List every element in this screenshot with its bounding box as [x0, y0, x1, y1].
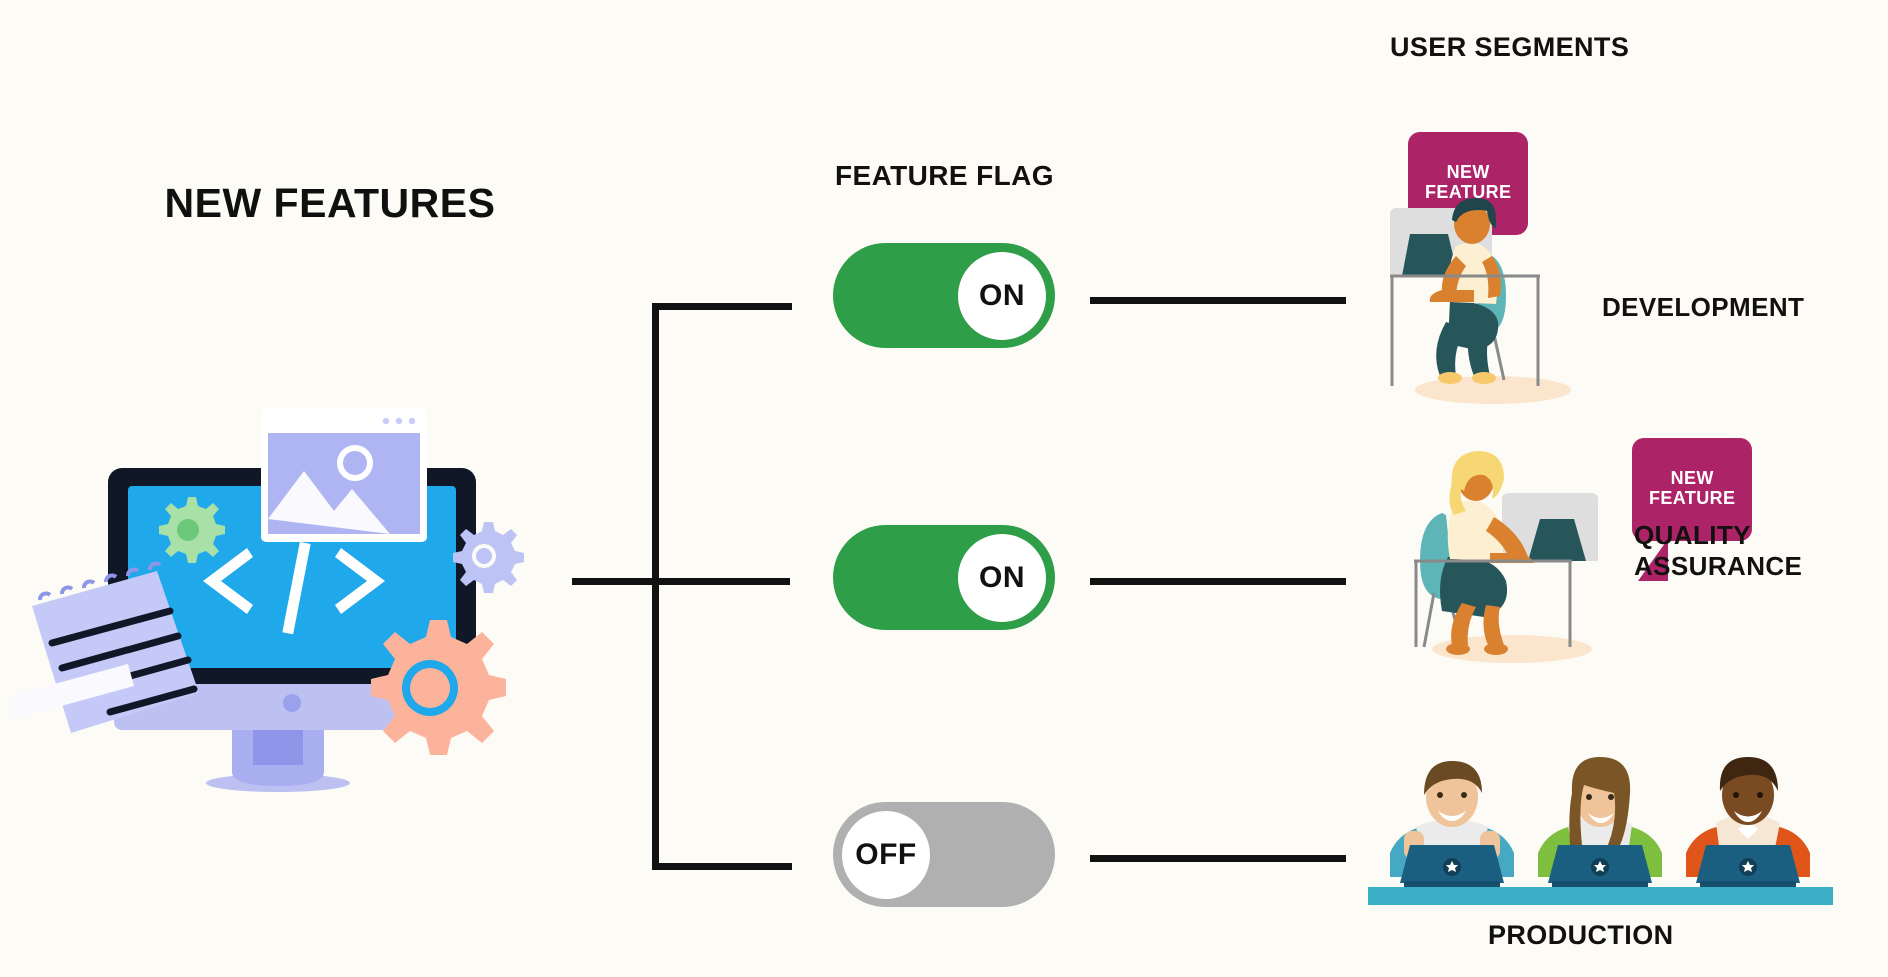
segment-label-development: DEVELOPMENT [1602, 292, 1804, 323]
gear-icon [453, 522, 524, 593]
feature-flag-toggle-qa[interactable]: ON [833, 525, 1055, 630]
feature-flag-column-header: FEATURE FLAG [835, 160, 1054, 192]
connector-branch-development [652, 303, 792, 310]
feature-flag-toggle-development[interactable]: ON [833, 243, 1055, 348]
segment-label-qa: QUALITY ASSURANCE [1634, 520, 1802, 581]
connector-output-development [1090, 297, 1346, 304]
person-at-desk-icon [1388, 190, 1613, 405]
image-placeholder-window-icon [261, 408, 427, 542]
connector-branch-qa [572, 578, 790, 585]
connector-branch-production [652, 863, 792, 870]
connector-spine [652, 303, 659, 870]
desktop-monitor-icon [10, 400, 550, 800]
toggle-knob-label: OFF [842, 811, 930, 899]
connector-output-production [1090, 855, 1346, 862]
badge-label: NEW FEATURE [1649, 468, 1735, 508]
segment-label-production: PRODUCTION [1488, 920, 1674, 952]
three-people-with-laptops-icon [1368, 735, 1833, 910]
page-title: NEW FEATURES [130, 178, 530, 228]
feature-flag-toggle-production[interactable]: OFF [833, 802, 1055, 907]
toggle-knob-label: ON [958, 534, 1046, 622]
person-at-desk-icon [1400, 435, 1625, 670]
gear-icon [159, 497, 225, 563]
gear-icon [371, 620, 506, 755]
toggle-knob-label: ON [958, 252, 1046, 340]
connector-output-qa [1090, 578, 1346, 585]
diagram-canvas: NEW FEATURES [0, 0, 1888, 977]
user-segments-column-header: USER SEGMENTS [1390, 32, 1629, 63]
